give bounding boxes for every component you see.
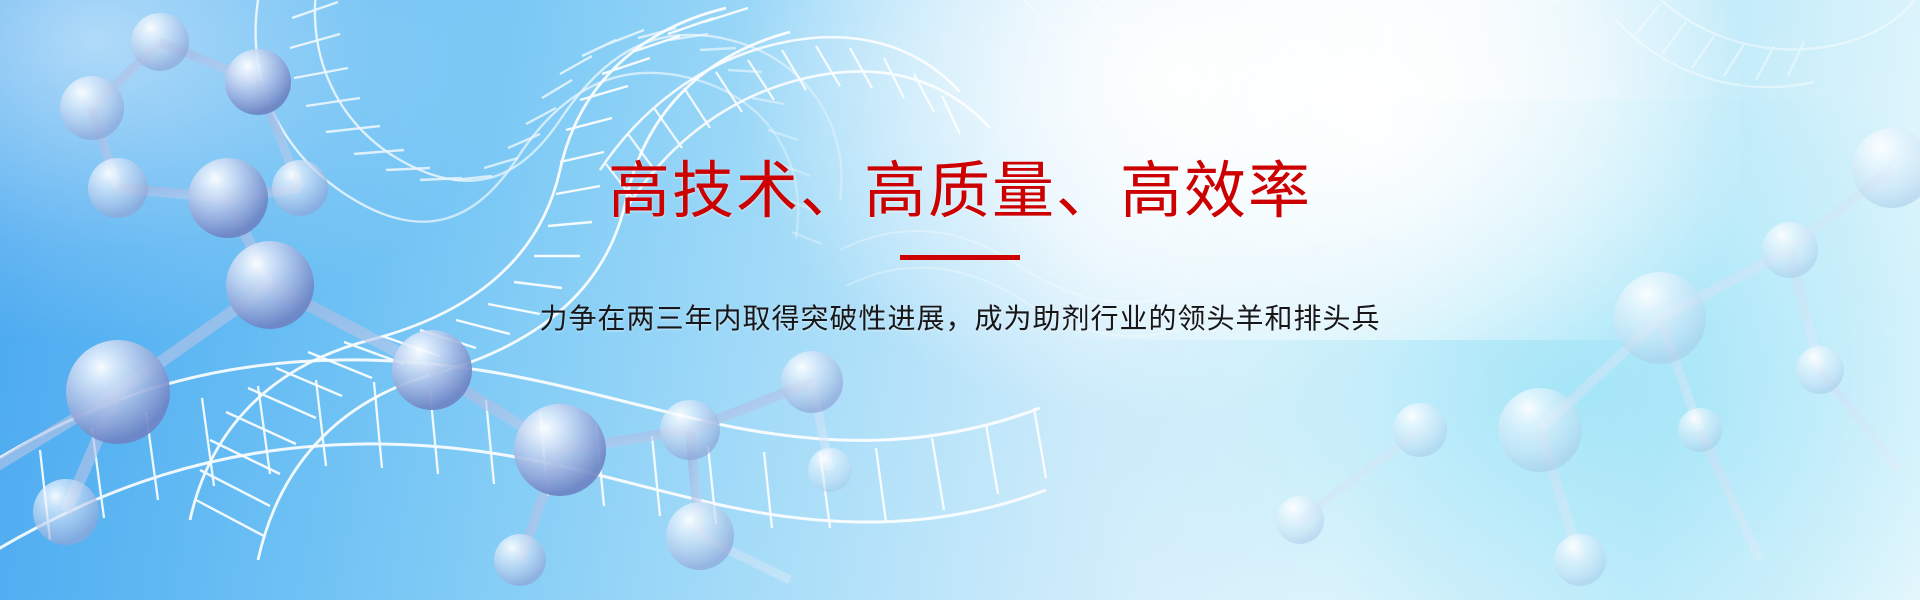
hero-banner: 高技术、高质量、高效率 力争在两三年内取得突破性进展，成为助剂行业的领头羊和排头… — [0, 0, 1920, 600]
molecule-chain-bottom-atoms — [392, 330, 852, 586]
cyan-glow-wash — [1080, 100, 1920, 600]
molecule-structures — [0, 0, 1920, 600]
molecule-chain-bottom-bonds — [432, 370, 830, 580]
banner-content: 高技术、高质量、高效率 力争在两三年内取得突破性进展，成为助剂行业的领头羊和排头… — [0, 0, 1920, 600]
page-subtitle: 力争在两三年内取得突破性进展，成为助剂行业的领头羊和排头兵 — [539, 302, 1380, 336]
molecule-chain-right-bonds — [1300, 168, 1900, 560]
white-glow-wash — [980, 0, 1740, 340]
dna-double-helix — [0, 0, 1920, 600]
molecule-chain-right-atoms — [1276, 128, 1920, 586]
molecule-hexagon-left-bonds — [0, 42, 432, 512]
title-divider — [900, 255, 1020, 260]
page-title: 高技术、高质量、高效率 — [608, 158, 1312, 225]
molecule-hexagon-left-atoms — [33, 13, 328, 545]
